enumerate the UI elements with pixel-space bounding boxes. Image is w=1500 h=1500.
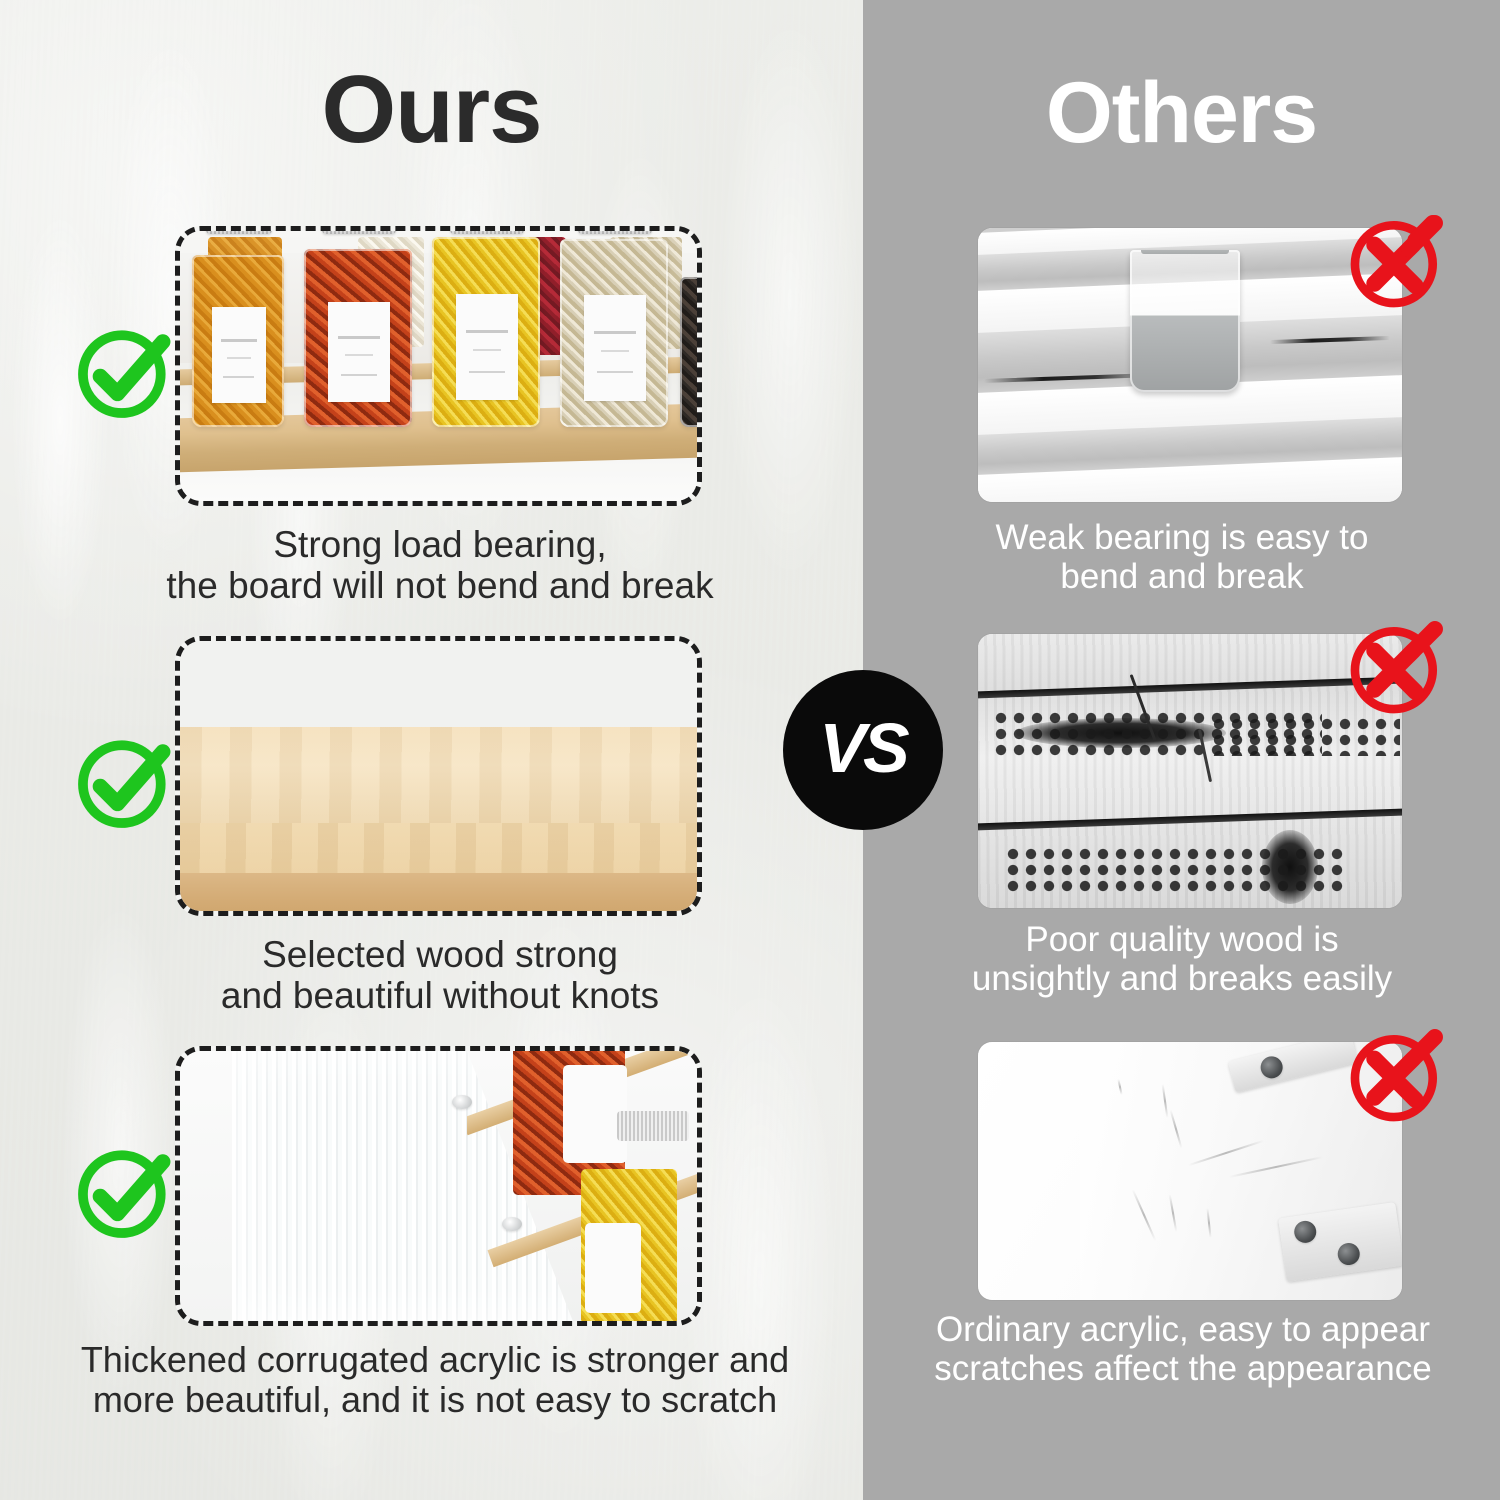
others-caption-2: Poor quality wood isunsightly and breaks… <box>890 920 1474 998</box>
ours-photo-3-frame <box>175 1046 702 1326</box>
others-caption-2-line2: unsightly and breaks easily <box>972 959 1392 998</box>
others-caption-3-line1: Ordinary acrylic, easy to appear <box>936 1310 1430 1349</box>
ours-caption-1: Strong load bearing,the board will not b… <box>60 524 820 607</box>
others-caption-2-line1: Poor quality wood is <box>1025 920 1338 959</box>
ours-caption-3-line1: Thickened corrugated acrylic is stronger… <box>81 1339 789 1380</box>
page-title-ours: Ours <box>0 62 863 158</box>
red-cross-icon-1 <box>1342 208 1450 316</box>
comparison-infographic: Ours Others <box>0 0 1500 1500</box>
green-check-icon-1 <box>70 318 178 426</box>
green-check-icon-3 <box>70 1138 178 1246</box>
others-caption-1: Weak bearing is easy tobend and break <box>890 518 1474 596</box>
knotty-poor-quality-wood-grayscale-photo <box>978 634 1402 908</box>
others-caption-3-line2: scratches affect the appearance <box>934 1349 1431 1388</box>
ours-caption-1-line1: Strong load bearing, <box>273 524 606 565</box>
ours-caption-2: Selected wood strongand beautiful withou… <box>60 934 820 1017</box>
others-caption-1-line1: Weak bearing is easy to <box>996 518 1369 557</box>
page-title-others: Others <box>863 70 1500 156</box>
ours-caption-2-line1: Selected wood strong <box>262 934 618 975</box>
jar-on-bending-shelf-grayscale-photo <box>978 228 1402 502</box>
red-cross-icon-2 <box>1342 614 1450 722</box>
ours-caption-1-line2: the board will not bend and break <box>166 565 713 606</box>
vs-badge-label: VS <box>819 708 906 788</box>
others-photo-2-frame <box>978 634 1402 908</box>
ours-photo-2-frame <box>175 636 702 916</box>
green-check-icon-2 <box>70 728 178 836</box>
ours-photo-1-frame <box>175 226 702 506</box>
others-photo-1-frame <box>978 228 1402 502</box>
ours-caption-2-line2: and beautiful without knots <box>221 975 659 1016</box>
red-cross-icon-3 <box>1342 1022 1450 1130</box>
vs-badge-icon: VS <box>783 670 943 830</box>
spice-jars-on-wooden-rack-photo <box>180 231 697 501</box>
clean-knot-free-wood-board-photo <box>180 641 697 911</box>
ours-caption-3-line2: more beautiful, and it is not easy to sc… <box>93 1379 777 1420</box>
corrugated-acrylic-panel-photo <box>180 1051 697 1321</box>
others-caption-1-line2: bend and break <box>1060 557 1303 596</box>
scratched-ordinary-acrylic-photo <box>978 1042 1402 1300</box>
others-caption-3: Ordinary acrylic, easy to appearscratche… <box>880 1310 1486 1388</box>
others-photo-3-frame <box>978 1042 1402 1300</box>
ours-caption-3: Thickened corrugated acrylic is stronger… <box>30 1340 840 1421</box>
